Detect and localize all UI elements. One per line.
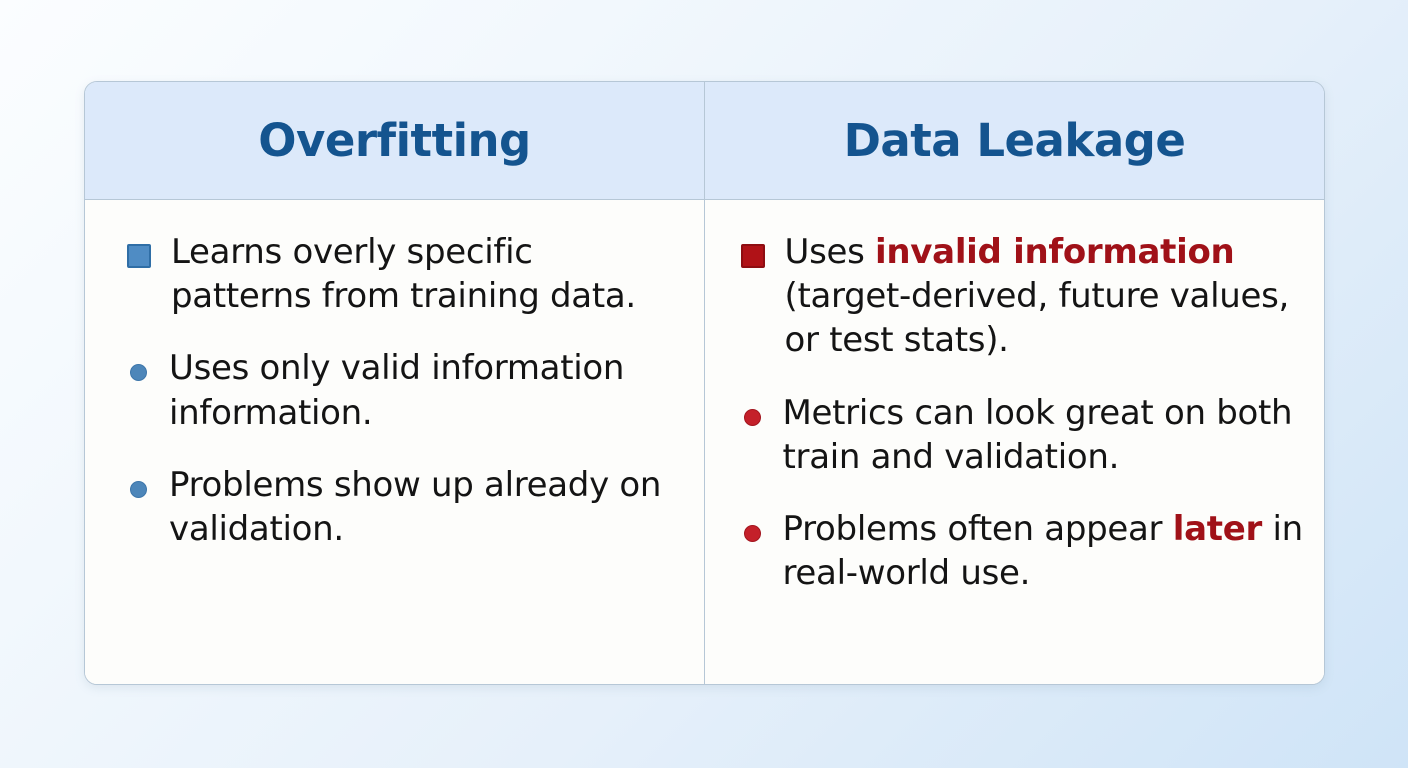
comparison-card: Overfitting Data Leakage Learns overly s… <box>84 81 1325 685</box>
column-title-overfitting: Overfitting <box>258 118 531 163</box>
bullet-text-segment: Uses only valid information information. <box>169 348 624 432</box>
comparison-body-row: Learns overly specific patterns from tra… <box>85 200 1324 684</box>
bullet-circle-marker-icon <box>130 364 147 381</box>
bullet-text-segment: (target-derived, future values, or test … <box>785 276 1290 360</box>
column-body-overfitting: Learns overly specific patterns from tra… <box>85 200 705 684</box>
column-header-overfitting: Overfitting <box>85 82 705 199</box>
bullet-item: Uses only valid information information. <box>127 346 680 434</box>
bullet-text: Uses only valid information information. <box>169 346 680 434</box>
bullet-item: Uses invalid information (target-derived… <box>741 230 1305 363</box>
bullet-square-marker-icon <box>127 244 151 268</box>
bullet-text: Uses invalid information (target-derived… <box>785 230 1305 363</box>
bullet-text-segment: Problems show up already on validation. <box>169 465 661 549</box>
highlighted-term: later <box>1173 509 1262 549</box>
bullet-square-marker-icon <box>741 244 765 268</box>
bullet-text: Problems often appear later in real-worl… <box>783 507 1305 595</box>
bullet-list-overfitting: Learns overly specific patterns from tra… <box>127 230 680 551</box>
highlighted-term: invalid information <box>875 232 1234 272</box>
bullet-text-segment: Metrics can look great on both train and… <box>783 393 1293 477</box>
bullet-text: Metrics can look great on both train and… <box>783 391 1305 479</box>
bullet-item: Problems often appear later in real-worl… <box>741 507 1305 595</box>
bullet-item: Learns overly specific patterns from tra… <box>127 230 680 318</box>
column-body-data-leakage: Uses invalid information (target-derived… <box>705 200 1325 684</box>
bullet-text-segment: Problems often appear <box>783 509 1173 549</box>
bullet-item: Metrics can look great on both train and… <box>741 391 1305 479</box>
bullet-text-segment: Learns overly specific patterns from tra… <box>171 232 636 316</box>
page-root: Overfitting Data Leakage Learns overly s… <box>0 0 1408 768</box>
bullet-circle-marker-icon <box>130 481 147 498</box>
column-title-data-leakage: Data Leakage <box>844 118 1186 163</box>
comparison-header-row: Overfitting Data Leakage <box>85 82 1324 200</box>
bullet-text: Problems show up already on validation. <box>169 463 680 551</box>
bullet-circle-marker-icon <box>744 409 761 426</box>
bullet-text: Learns overly specific patterns from tra… <box>171 230 680 318</box>
bullet-circle-marker-icon <box>744 525 761 542</box>
bullet-item: Problems show up already on validation. <box>127 463 680 551</box>
column-header-data-leakage: Data Leakage <box>705 82 1324 199</box>
bullet-list-data-leakage: Uses invalid information (target-derived… <box>741 230 1305 595</box>
bullet-text-segment: Uses <box>785 232 876 272</box>
